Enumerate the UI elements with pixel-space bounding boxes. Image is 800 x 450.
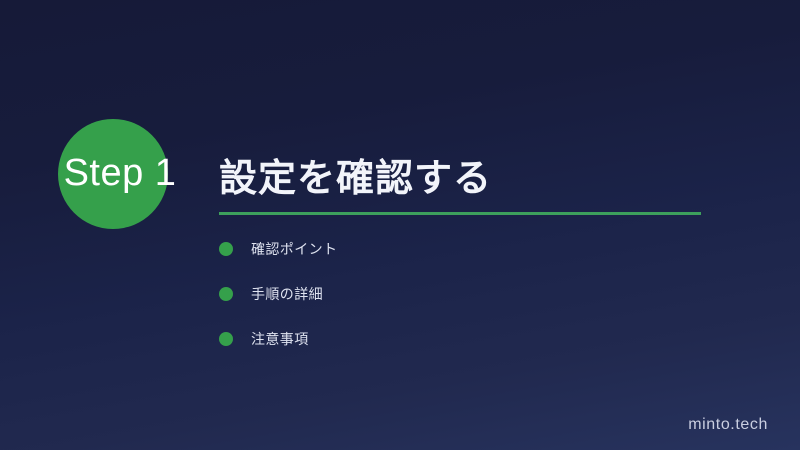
step-badge-label: Step 1 [44, 150, 196, 196]
bullet-list: 確認ポイント 手順の詳細 注意事項 [219, 240, 689, 375]
list-item-label: 手順の詳細 [251, 285, 323, 303]
slide-title: 設定を確認する [219, 147, 492, 202]
list-item: 確認ポイント [219, 240, 689, 285]
bullet-dot-icon [219, 332, 233, 346]
list-item: 手順の詳細 [219, 285, 689, 330]
list-item: 注意事項 [219, 330, 689, 375]
presentation-slide: Step 1 設定を確認する 確認ポイント 手順の詳細 注意事項 minto.t… [0, 0, 800, 450]
bullet-dot-icon [219, 242, 233, 256]
title-divider [219, 212, 701, 215]
list-item-label: 注意事項 [251, 330, 309, 348]
list-item-label: 確認ポイント [251, 240, 337, 258]
bullet-dot-icon [219, 287, 233, 301]
footer-brand: minto.tech [688, 416, 768, 434]
